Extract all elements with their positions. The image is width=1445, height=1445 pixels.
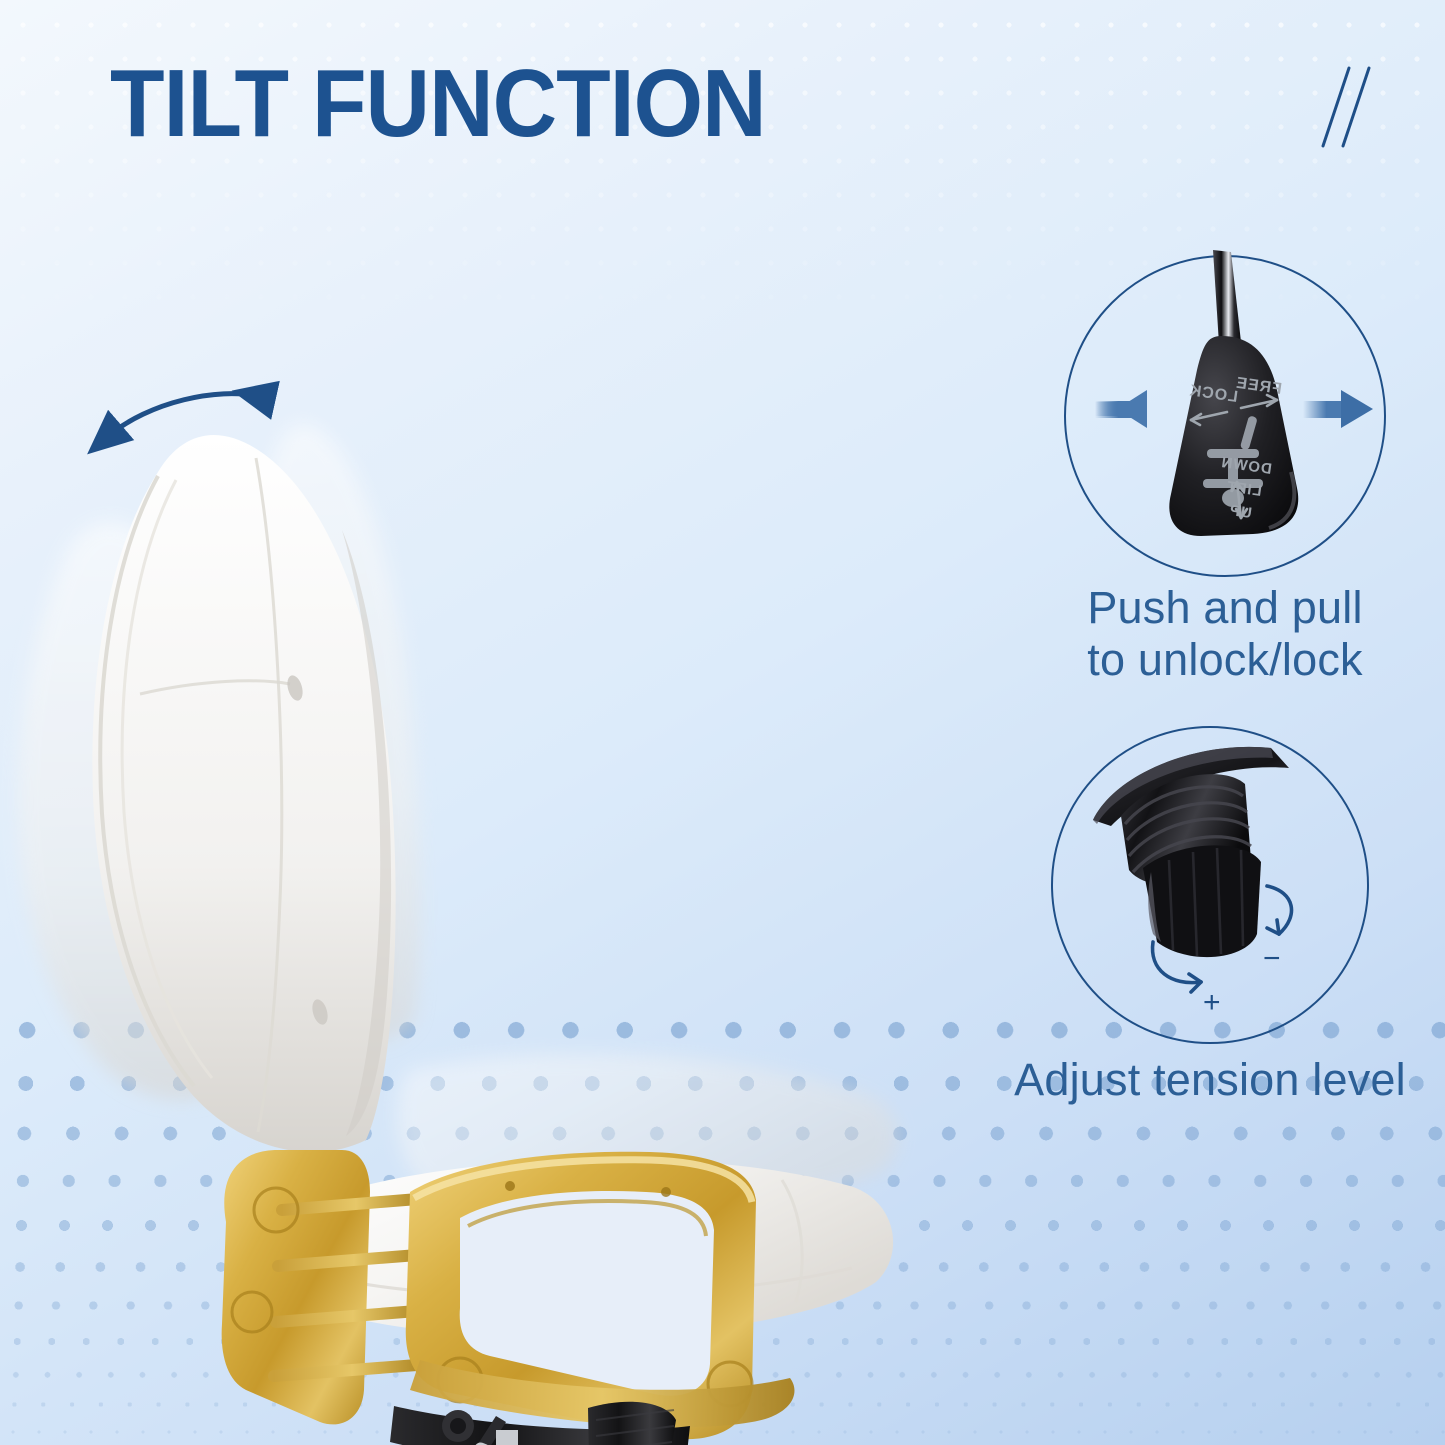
callout-caption-tilt-lever: Push and pull to unlock/lock: [990, 582, 1445, 686]
callout-tension-knob: + − Adjust tension level: [960, 720, 1445, 1140]
caption-line-1: Push and pull: [990, 582, 1445, 634]
rotation-increase-label: +: [1203, 986, 1221, 1019]
rotation-decrease-label: −: [1263, 942, 1281, 975]
rotation-decrease-arrow: [1267, 886, 1292, 934]
armrest-frame: [222, 1150, 795, 1439]
caption-line-1: Adjust tension level: [960, 1054, 1445, 1106]
corner-slash-icon: [1307, 60, 1377, 152]
callout-caption-tension-knob: Adjust tension level: [960, 1054, 1445, 1106]
product-image-office-chair: [0, 380, 970, 1445]
page-title: TILT FUNCTION: [110, 56, 766, 152]
tension-knob-illustration: + −: [1045, 720, 1375, 1050]
pull-direction-arrow: [1303, 390, 1373, 428]
callout-tilt-lever: LOCK FREE D: [990, 250, 1445, 730]
caption-line-2: to unlock/lock: [990, 634, 1445, 686]
push-direction-arrow: [1095, 390, 1147, 428]
infographic-canvas: TILT FUNCTION: [0, 0, 1445, 1445]
tilt-lever-illustration: LOCK FREE D: [1055, 250, 1395, 580]
